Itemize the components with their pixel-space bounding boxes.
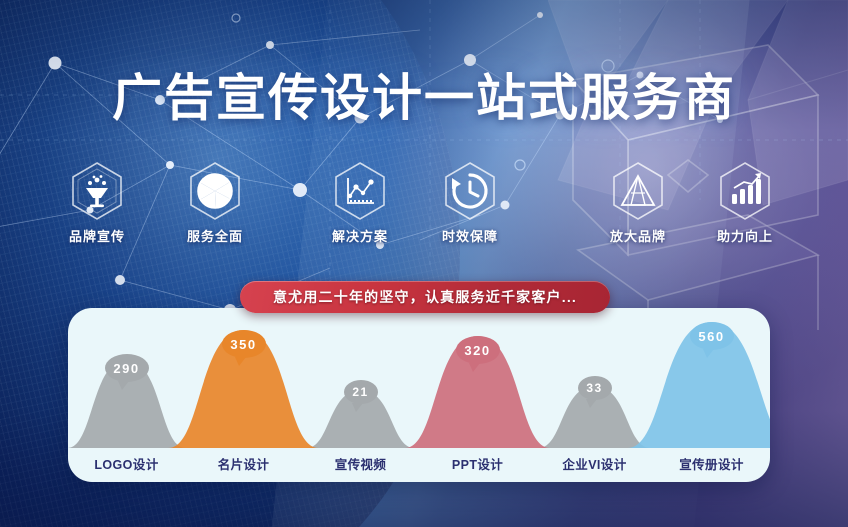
value-bubble-tail — [469, 363, 480, 372]
value-bubble-text: 290 — [105, 354, 149, 382]
pyramid-triangle-icon — [607, 160, 669, 222]
page-title: 广告宣传设计一站式服务商 — [0, 58, 848, 130]
value-bubble-text: 350 — [222, 330, 266, 358]
value-bubble-tail — [352, 403, 363, 412]
value-bubble: 290 — [105, 354, 149, 390]
feature-label: 放大品牌 — [583, 226, 693, 245]
feature-label: 服务全面 — [160, 226, 270, 245]
feature-label: 时效保障 — [415, 226, 525, 245]
category-label: 名片设计 — [218, 454, 270, 473]
feature-item-solutions[interactable]: 解决方案 — [305, 160, 415, 245]
value-bubble: 320 — [456, 336, 500, 372]
tagline-ribbon: 意尤用二十年的坚守，认真服务近千家客户... — [240, 281, 610, 313]
value-bubble: 33 — [578, 376, 612, 408]
value-bubble-tail — [586, 399, 597, 408]
value-bubble-group: 2903502132033560 — [68, 308, 770, 452]
megaphone-award-icon — [66, 160, 128, 222]
feature-item-timeliness[interactable]: 时效保障 — [415, 160, 525, 245]
value-bubble: 560 — [690, 322, 734, 358]
promo-poster: 广告宣传设计一站式服务商 品牌宣传 — [0, 0, 848, 527]
value-bubble-text: 320 — [456, 336, 500, 364]
feature-label: 品牌宣传 — [42, 226, 152, 245]
category-label-row: LOGO设计名片设计宣传视频PPT设计企业VI设计宣传册设计 — [68, 448, 770, 482]
category-label: 宣传册设计 — [679, 454, 744, 473]
feature-item-full-service[interactable]: 服务全面 — [160, 160, 270, 245]
value-bubble-text: 560 — [690, 322, 734, 350]
feature-row: 品牌宣传 服务全面 — [0, 160, 848, 250]
bar-chart-up-icon — [714, 160, 776, 222]
value-bubble-tail — [118, 381, 129, 390]
chart-analysis-icon — [329, 160, 391, 222]
aperture-icon — [184, 160, 246, 222]
clock-history-icon — [439, 160, 501, 222]
value-bubble-tail — [703, 349, 714, 358]
category-label: PPT设计 — [452, 454, 503, 473]
feature-label: 助力向上 — [690, 226, 800, 245]
category-label: 企业VI设计 — [562, 454, 626, 473]
category-label: LOGO设计 — [94, 454, 158, 473]
chart-card: 2903502132033560 LOGO设计名片设计宣传视频PPT设计企业VI… — [68, 308, 770, 482]
feature-item-brand-promotion[interactable]: 品牌宣传 — [42, 160, 152, 245]
feature-item-amplify-brand[interactable]: 放大品牌 — [583, 160, 693, 245]
tagline-text: 意尤用二十年的坚守，认真服务近千家客户... — [273, 287, 577, 307]
category-label: 宣传视频 — [335, 454, 387, 473]
feature-item-boost-growth[interactable]: 助力向上 — [690, 160, 800, 245]
value-bubble-text: 33 — [578, 376, 612, 400]
value-bubble-tail — [235, 357, 246, 366]
value-bubble-text: 21 — [344, 380, 378, 404]
value-bubble: 21 — [344, 380, 378, 412]
feature-label: 解决方案 — [305, 226, 415, 245]
value-bubble: 350 — [222, 330, 266, 366]
